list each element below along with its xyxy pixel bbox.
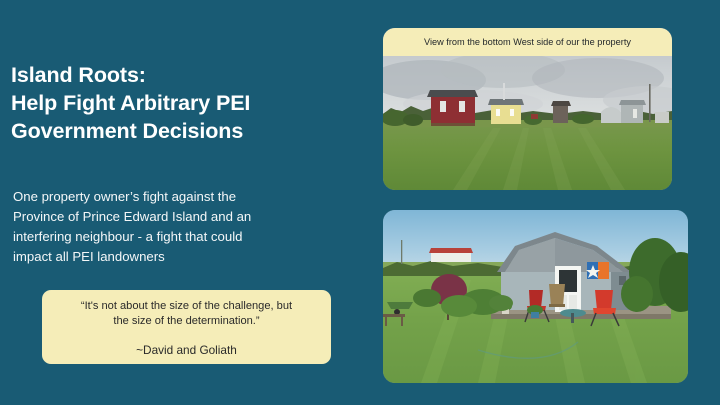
quote-card: “It's not about the size of the challeng… [42, 290, 331, 364]
cabin-photo-illustration [383, 210, 688, 383]
title-line-3: Government Decisions [11, 117, 361, 145]
body-line-1: One property owner’s fight against the [13, 187, 333, 207]
photo-card-top: View from the bottom West side of our th… [383, 28, 672, 190]
quote-line-2: the size of the determination.” [54, 314, 319, 329]
slide-canvas: Island Roots: Help Fight Arbitrary PEI G… [0, 0, 720, 405]
body-line-3: interfering neighbour - a fight that cou… [13, 227, 333, 247]
distant-farm-building [429, 248, 473, 262]
title-line-2: Help Fight Arbitrary PEI [11, 89, 361, 117]
photo-card-bottom [383, 210, 688, 383]
photo-top-caption-band: View from the bottom West side of our th… [383, 28, 672, 56]
small-outbuilding [551, 101, 571, 123]
photo-bottom-image [383, 210, 688, 383]
page-title: Island Roots: Help Fight Arbitrary PEI G… [11, 61, 361, 145]
photo-top-caption-text: View from the bottom West side of our th… [424, 37, 631, 47]
body-line-4: impact all PEI landowners [13, 247, 333, 267]
red-shed [427, 90, 478, 126]
body-line-2: Province of Prince Edward Island and an [13, 207, 333, 227]
quote-line-1: “It's not about the size of the challeng… [54, 299, 319, 314]
quote-attribution: ~David and Goliath [54, 343, 319, 357]
left-content-column: Island Roots: Help Fight Arbitrary PEI G… [0, 0, 370, 405]
title-line-1: Island Roots: [11, 61, 361, 89]
wooden-chair-middle [549, 284, 565, 307]
body-paragraph: One property owner’s fight against the P… [13, 187, 333, 267]
